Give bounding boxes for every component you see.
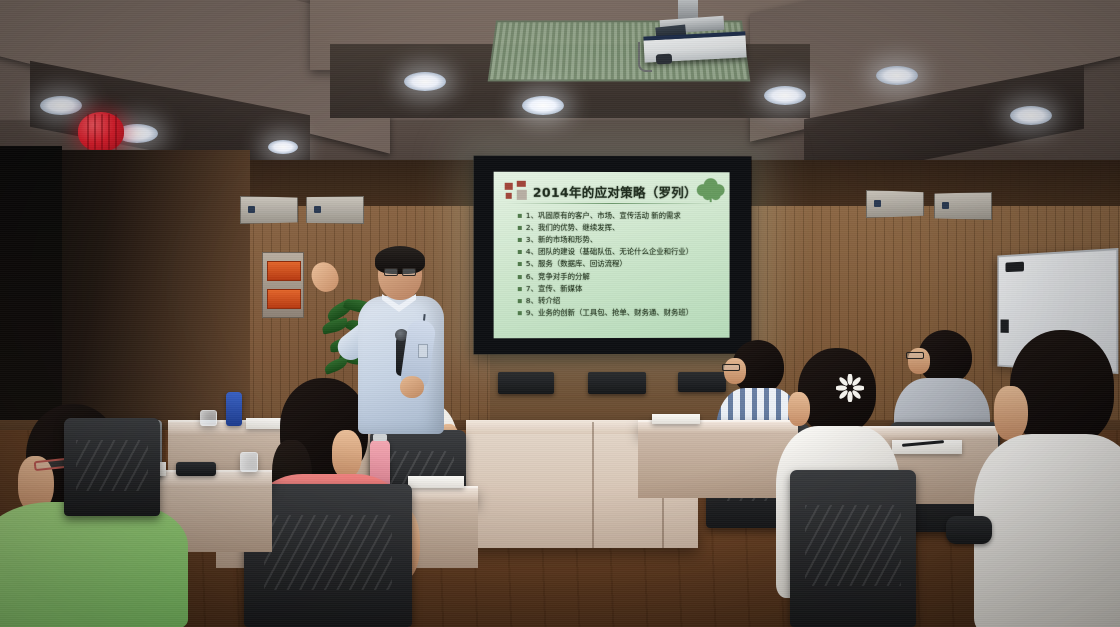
hand	[400, 376, 424, 398]
slide-bullet-text: 2、我们的优势、继续发挥、	[526, 224, 620, 233]
conference-chair	[64, 418, 160, 516]
desk-monitor	[588, 372, 646, 394]
slide-bullet-text: 8、转介绍	[526, 297, 560, 306]
slide-bullet-item: 1、巩固原有的客户、市场、宣传活动 新的需求	[518, 212, 724, 221]
slide-title: 2014年的应对策略（罗列）	[530, 182, 700, 201]
wall-plaque-board	[262, 252, 304, 318]
slide-bullet-item: 4、团队的建设（基础队伍、无论什么企业和行业）	[518, 248, 724, 257]
bullet-marker-icon	[518, 214, 522, 218]
face	[724, 358, 746, 384]
head	[1010, 330, 1114, 446]
slide-bullet-text: 9、业务的创新（工具包、抢单、财务通、财务班）	[526, 309, 693, 318]
glass-water-jar	[200, 410, 217, 426]
lantern-body	[78, 112, 124, 152]
slide-title-divider	[506, 203, 718, 204]
attendee-white-blouse	[988, 330, 1120, 627]
bullet-marker-icon	[518, 262, 522, 266]
projector-lens	[656, 54, 673, 65]
ear-neck	[994, 386, 1028, 440]
desk-panel	[638, 434, 798, 498]
projection-screen: 2014年的应对策略（罗列） 1、巩固原有的客户、市场、宣传活动 新的需求 2、…	[473, 156, 751, 355]
torso	[0, 502, 188, 627]
ceiling	[0, 0, 1120, 172]
flower-hair-clip	[836, 374, 864, 402]
bullet-marker-icon	[518, 275, 522, 279]
smartwatch	[946, 516, 992, 544]
slide-bullet-item: 2、我们的优势、继续发挥、	[518, 224, 724, 233]
bullet-marker-icon	[518, 299, 522, 303]
slide-bullet-item: 7、宣传、新媒体	[518, 285, 724, 294]
slide-bullet-item: 6、竞争对手的分解	[518, 272, 724, 281]
presentation-slide: 2014年的应对策略（罗列） 1、巩固原有的客户、市场、宣传活动 新的需求 2、…	[494, 172, 730, 339]
slide-bullet-item: 5、服务（数据库、回访流程）	[518, 260, 724, 269]
glasses-icon	[722, 364, 740, 371]
notebook	[408, 476, 464, 488]
slide-bullet-item: 8、转介绍	[518, 297, 724, 306]
wall-speaker	[934, 192, 992, 220]
wall-speaker	[306, 196, 364, 224]
seminar-room-photo: 2014年的应对策略（罗列） 1、巩固原有的客户、市场、宣传活动 新的需求 2、…	[0, 0, 1120, 627]
notebook	[652, 414, 700, 424]
bullet-marker-icon	[518, 238, 522, 242]
slide-bullet-text: 4、团队的建设（基础队伍、无论什么企业和行业）	[526, 248, 693, 257]
slide-bullet-text: 7、宣传、新媒体	[526, 285, 583, 294]
wall-award-plaque	[267, 261, 301, 281]
wall-speaker	[866, 190, 924, 218]
wall-award-plaque	[267, 289, 301, 309]
conference-chair	[790, 470, 916, 627]
slide-bullet-text: 3、新的市场和形势、	[526, 236, 597, 245]
slide-bullet-text: 5、服务（数据库、回访流程）	[526, 260, 627, 269]
ear-neck	[788, 392, 810, 426]
recessed-downlight	[764, 86, 806, 105]
presenter	[330, 248, 454, 434]
hair	[375, 246, 425, 274]
torso	[974, 434, 1120, 627]
water-bottle	[226, 392, 242, 426]
bullet-marker-icon	[518, 250, 522, 254]
wall-speaker	[240, 196, 298, 224]
glasses-icon	[402, 268, 416, 276]
glasses-icon	[384, 268, 398, 276]
bullet-marker-icon	[518, 311, 522, 315]
glass-water-jar	[240, 452, 258, 472]
whiteboard-clip	[1005, 262, 1023, 272]
recessed-downlight	[268, 140, 298, 154]
recessed-downlight	[404, 72, 446, 91]
slide-bullet-item: 9、业务的创新（工具包、抢单、财务通、财务班）	[518, 309, 724, 318]
glasses-icon	[906, 352, 924, 359]
squares-logo	[505, 181, 533, 201]
slide-bullet-text: 6、竞争对手的分解	[526, 273, 590, 282]
recessed-downlight	[876, 66, 918, 85]
name-badge	[418, 344, 428, 358]
slide-bullet-list: 1、巩固原有的客户、市场、宣传活动 新的需求 2、我们的优势、继续发挥、 3、新…	[518, 212, 724, 321]
projector-cable	[638, 42, 652, 72]
slide-bullet-text: 1、巩固原有的客户、市场、宣传活动 新的需求	[526, 212, 681, 221]
desk-monitor	[498, 372, 554, 394]
recessed-downlight	[40, 96, 82, 115]
bullet-marker-icon	[518, 226, 522, 230]
recessed-downlight	[1010, 106, 1052, 125]
ceiling-projector	[634, 2, 752, 64]
recessed-downlight	[522, 96, 564, 115]
bullet-marker-icon	[518, 287, 522, 291]
slide-bullet-item: 3、新的市场和形势、	[518, 236, 724, 245]
ear-neck	[332, 430, 362, 478]
